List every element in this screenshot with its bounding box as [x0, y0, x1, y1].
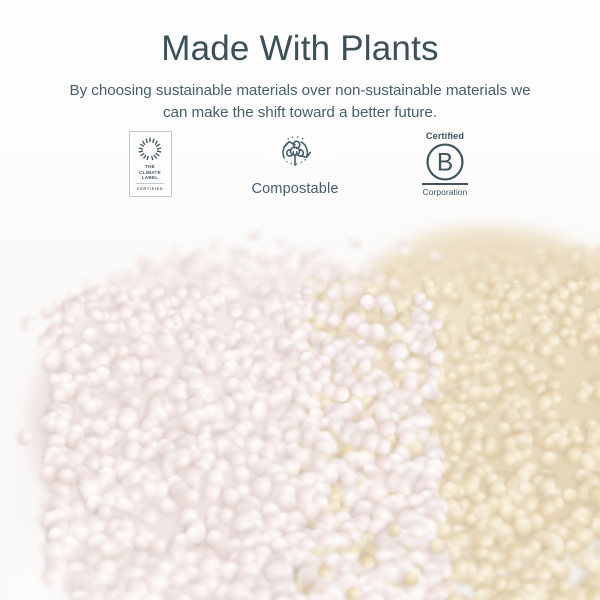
pellet [449, 292, 463, 304]
pellet [316, 311, 328, 321]
pellet [551, 354, 568, 373]
certification-badge-row: THE CLIMATE LABEL CERTIFIED [0, 131, 600, 213]
pellet [389, 523, 401, 537]
climate-label-card: THE CLIMATE LABEL CERTIFIED [129, 131, 172, 197]
pellet [398, 243, 411, 254]
pellet [539, 449, 560, 470]
b-corp-icon: Certified B Corporation [422, 131, 468, 197]
page-subtitle: By choosing sustainable materials over n… [65, 80, 535, 123]
pellet [584, 343, 599, 361]
pellet [429, 250, 444, 264]
b-corp-top-text: Certified [426, 131, 464, 141]
pellet [151, 539, 165, 556]
pellet [247, 229, 260, 240]
climate-line-3: LABEL [139, 175, 161, 181]
pellet [500, 311, 516, 324]
pellet [105, 322, 122, 335]
pellet [94, 351, 111, 366]
pellet [549, 249, 560, 261]
pellet [162, 335, 175, 351]
pellet [139, 506, 158, 524]
sunburst-icon [137, 136, 163, 162]
b-corp-circle-mark: B [425, 142, 465, 182]
b-corp-divider [422, 183, 468, 185]
page-title: Made With Plants [0, 28, 600, 70]
climate-divider [136, 183, 164, 184]
b-corp-bottom-text: Corporation [423, 187, 468, 197]
header-block: Made With Plants By choosing sustainable… [0, 0, 600, 123]
pellet [477, 532, 494, 548]
badge-compostable[interactable]: Compostable [220, 131, 370, 198]
pellet [20, 315, 40, 334]
pellet [19, 431, 31, 446]
pellet [536, 566, 552, 580]
pellet [274, 234, 288, 248]
compostable-label: Compostable [251, 180, 338, 198]
pellet [499, 358, 515, 372]
pellet [369, 249, 382, 261]
climate-label-words: THE CLIMATE LABEL [139, 164, 161, 181]
pellet [67, 299, 81, 311]
pellet [576, 390, 589, 406]
pellet [449, 439, 462, 455]
pellet [349, 236, 363, 249]
svg-text:B: B [437, 150, 453, 177]
pellet [376, 331, 389, 341]
product-poster: Made With Plants By choosing sustainable… [0, 0, 600, 600]
badge-b-corp[interactable]: Certified B Corporation [370, 131, 520, 197]
pellet [210, 239, 227, 256]
climate-certified-text: CERTIFIED [137, 186, 164, 191]
badge-climate-label[interactable]: THE CLIMATE LABEL CERTIFIED [80, 131, 220, 197]
pellet [451, 271, 465, 284]
compostable-clover-icon [269, 131, 321, 175]
